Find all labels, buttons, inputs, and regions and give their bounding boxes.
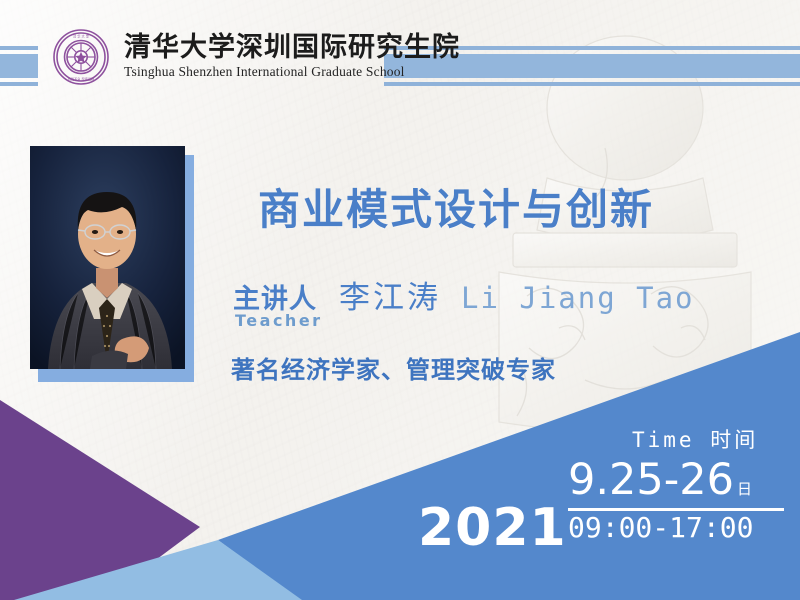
speaker-portrait — [30, 146, 194, 382]
event-year: 2021 — [418, 502, 567, 554]
event-date-range: 9.25-26 — [568, 459, 734, 502]
event-date-range-row: 9.25-26 日 — [568, 459, 784, 502]
event-hours: 09:00-17:00 — [568, 513, 784, 544]
portrait-photo — [30, 146, 185, 369]
speaker-subtitle: 著名经济学家、管理突破专家 — [231, 350, 556, 385]
poster-canvas: 清 华 大 學 自强不息 厚德载物 清华大学深圳国际研究生院 Tsinghua … — [0, 0, 800, 600]
speaker-role-en: Teacher — [235, 311, 323, 330]
speaker-name-cn: 李江涛 — [339, 272, 441, 317]
page-title: 商业模式设计与创新 — [258, 176, 654, 237]
speaker-name-en: Li Jiang Tao — [461, 281, 695, 315]
event-date-stack: 9.25-26 日 09:00-17:00 — [568, 459, 784, 544]
time-heading: Time 时间 — [632, 424, 758, 454]
event-date-unit: 日 — [737, 478, 752, 499]
